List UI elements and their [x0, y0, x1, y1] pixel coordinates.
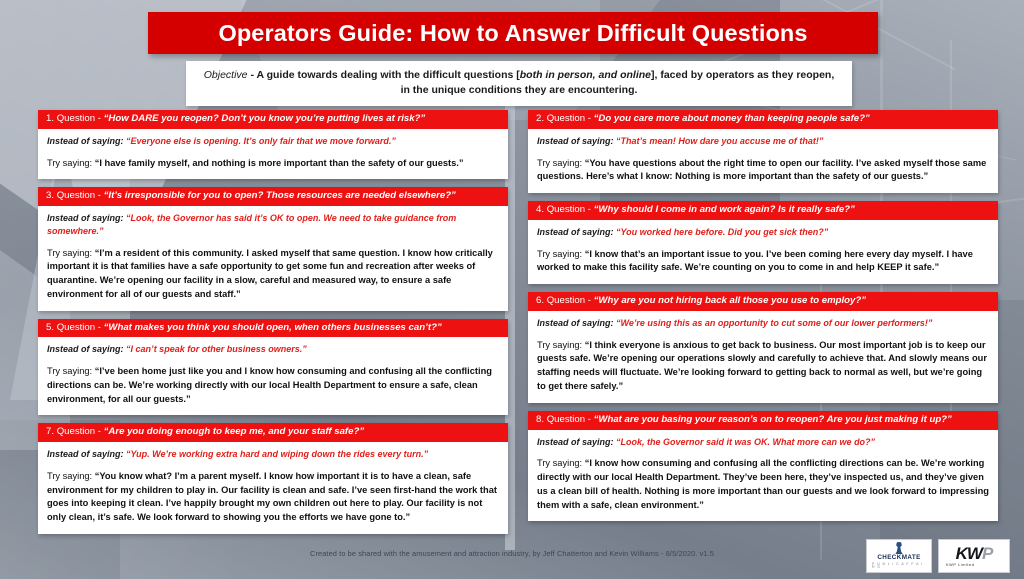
question-prefix: Question - [57, 190, 104, 201]
instead-label: Instead of saying: [537, 136, 616, 146]
try-label: Try saying: [47, 248, 95, 258]
question-text: “Are you doing enough to keep me, and yo… [104, 426, 365, 437]
kwp-logo: KWP KWP Limited [938, 539, 1010, 573]
question-bar: 8. Question - “What are you basing your … [528, 411, 998, 430]
try-text: “I’ve been home just like you and I know… [47, 366, 492, 404]
slide-canvas: Operators Guide: How to Answer Difficult… [0, 0, 1024, 579]
question-text: “Why should I come in and work again? Is… [594, 204, 855, 215]
question-bar: 2. Question - “Do you care more about mo… [528, 110, 998, 129]
instead-label: Instead of saying: [47, 449, 126, 459]
qa-card-body: Instead of saying: “Yup. We’re working e… [38, 442, 508, 534]
try-row: Try saying: “You know what? I’m a parent… [47, 470, 499, 525]
instead-label: Instead of saying: [47, 344, 126, 354]
instead-row: Instead of saying: “Look, the Governor s… [537, 436, 989, 449]
question-number: 4. [536, 204, 544, 215]
try-row: Try saying: “I have family myself, and n… [47, 157, 499, 171]
instead-label: Instead of saying: [537, 227, 616, 237]
question-number: 3. [46, 190, 54, 201]
objective-label: Objective [204, 69, 248, 81]
instead-text: “Everyone else is opening. It’s only fai… [126, 136, 396, 146]
instead-row: Instead of saying: “Everyone else is ope… [47, 135, 499, 148]
question-bar: 5. Question - “What makes you think you … [38, 319, 508, 338]
question-prefix: Question - [547, 113, 594, 124]
qa-card-body: Instead of saying: “Look, the Governor s… [528, 430, 998, 522]
question-text: “What are you basing your reason’s on to… [594, 414, 952, 425]
qa-card: 6. Question - “Why are you not hiring ba… [528, 292, 998, 403]
try-text: “You have questions about the right time… [537, 158, 986, 182]
qa-card: 7. Question - “Are you doing enough to k… [38, 423, 508, 534]
instead-text: “I can’t speak for other business owners… [126, 344, 307, 354]
try-text: “I know how consuming and confusing all … [537, 458, 989, 509]
kwp-logo-mark: KWP [956, 545, 993, 562]
instead-text: “That’s mean! How dare you accuse me of … [616, 136, 823, 146]
instead-row: Instead of saying: “Look, the Governor h… [47, 212, 499, 237]
try-text: “I know that’s an important issue to you… [537, 249, 973, 273]
qa-card-body: Instead of saying: “Everyone else is ope… [38, 129, 508, 179]
logo-group: CHECKMATE P U B L I C A F F A I R S KWP … [866, 539, 1010, 573]
question-bar: 3. Question - “It’s irresponsible for yo… [38, 187, 508, 206]
instead-label: Instead of saying: [47, 213, 126, 223]
try-text: “I think everyone is anxious to get back… [537, 340, 987, 391]
question-bar: 1. Question - “How DARE you reopen? Don’… [38, 110, 508, 129]
question-text: “Why are you not hiring back all those y… [594, 295, 866, 306]
question-number: 1. [46, 113, 54, 124]
instead-text: “Yup. We’re working extra hard and wipin… [126, 449, 428, 459]
instead-row: Instead of saying: “I can’t speak for ot… [47, 343, 499, 356]
instead-label: Instead of saying: [47, 136, 126, 146]
qa-card-body: Instead of saying: “Look, the Governor h… [38, 206, 508, 310]
instead-row: Instead of saying: “We’re using this as … [537, 317, 989, 330]
instead-label: Instead of saying: [537, 437, 616, 447]
qa-card-body: Instead of saying: “We’re using this as … [528, 311, 998, 403]
question-prefix: Question - [57, 322, 104, 333]
question-bar: 7. Question - “Are you doing enough to k… [38, 423, 508, 442]
qa-card-body: Instead of saying: “I can’t speak for ot… [38, 337, 508, 415]
try-label: Try saying: [47, 471, 95, 481]
question-number: 8. [536, 414, 544, 425]
qa-card-body: Instead of saying: “You worked here befo… [528, 220, 998, 284]
try-label: Try saying: [537, 458, 585, 468]
page-title-text: Operators Guide: How to Answer Difficult… [218, 20, 807, 47]
qa-card: 4. Question - “Why should I come in and … [528, 201, 998, 284]
question-prefix: Question - [57, 113, 104, 124]
try-row: Try saying: “I know how consuming and co… [537, 457, 989, 512]
question-prefix: Question - [57, 426, 104, 437]
instead-text: “You worked here before. Did you get sic… [616, 227, 828, 237]
question-number: 7. [46, 426, 54, 437]
qa-card: 5. Question - “What makes you think you … [38, 319, 508, 416]
question-text: “How DARE you reopen? Don’t you know you… [104, 113, 426, 124]
question-column-right: 2. Question - “Do you care more about mo… [528, 110, 998, 529]
question-text: “It’s irresponsible for you to open? Tho… [104, 190, 456, 201]
instead-row: Instead of saying: “You worked here befo… [537, 226, 989, 239]
try-label: Try saying: [537, 340, 585, 350]
try-text: “You know what? I’m a parent myself. I k… [47, 471, 497, 522]
objective-part1: A guide towards dealing with the difficu… [256, 69, 519, 81]
qa-card: 1. Question - “How DARE you reopen? Don’… [38, 110, 508, 179]
question-prefix: Question - [547, 204, 594, 215]
question-column-left: 1. Question - “How DARE you reopen? Don’… [38, 110, 508, 542]
try-label: Try saying: [537, 158, 585, 168]
instead-row: Instead of saying: “Yup. We’re working e… [47, 448, 499, 461]
checkmate-logo-name: CHECKMATE [877, 555, 920, 561]
question-text: “What makes you think you should open, w… [104, 322, 442, 333]
try-text: “I have family myself, and nothing is mo… [95, 158, 464, 168]
objective-emphasis: both in person, and online [520, 69, 651, 81]
chess-piece-icon [894, 542, 904, 554]
question-bar: 6. Question - “Why are you not hiring ba… [528, 292, 998, 311]
question-bar: 4. Question - “Why should I come in and … [528, 201, 998, 220]
instead-row: Instead of saying: “That’s mean! How dar… [537, 135, 989, 148]
qa-card: 2. Question - “Do you care more about mo… [528, 110, 998, 193]
qa-card: 8. Question - “What are you basing your … [528, 411, 998, 522]
checkmate-logo: CHECKMATE P U B L I C A F F A I R S [866, 539, 932, 573]
question-text: “Do you care more about money than keepi… [594, 113, 870, 124]
try-row: Try saying: “You have questions about th… [537, 157, 989, 185]
question-number: 2. [536, 113, 544, 124]
qa-card: 3. Question - “It’s irresponsible for yo… [38, 187, 508, 310]
try-label: Try saying: [47, 158, 95, 168]
try-label: Try saying: [47, 366, 95, 376]
kwp-logo-tagline: KWP Limited [944, 564, 974, 568]
qa-card-body: Instead of saying: “That’s mean! How dar… [528, 129, 998, 193]
page-title: Operators Guide: How to Answer Difficult… [148, 12, 878, 54]
question-prefix: Question - [547, 295, 594, 306]
objective-statement: Objective - A guide towards dealing with… [186, 61, 852, 106]
question-number: 6. [536, 295, 544, 306]
question-prefix: Question - [547, 414, 594, 425]
instead-text: “We’re using this as an opportunity to c… [616, 318, 932, 328]
question-number: 5. [46, 322, 54, 333]
try-row: Try saying: “I think everyone is anxious… [537, 339, 989, 394]
try-row: Try saying: “I know that’s an important … [537, 248, 989, 276]
checkmate-logo-tagline: P U B L I C A F F A I R S [872, 563, 926, 570]
try-label: Try saying: [537, 249, 585, 259]
instead-text: “Look, the Governor said it was OK. What… [616, 437, 875, 447]
try-text: “I’m a resident of this community. I ask… [47, 248, 493, 299]
try-row: Try saying: “I’ve been home just like yo… [47, 365, 499, 406]
try-row: Try saying: “I’m a resident of this comm… [47, 247, 499, 302]
instead-label: Instead of saying: [537, 318, 616, 328]
